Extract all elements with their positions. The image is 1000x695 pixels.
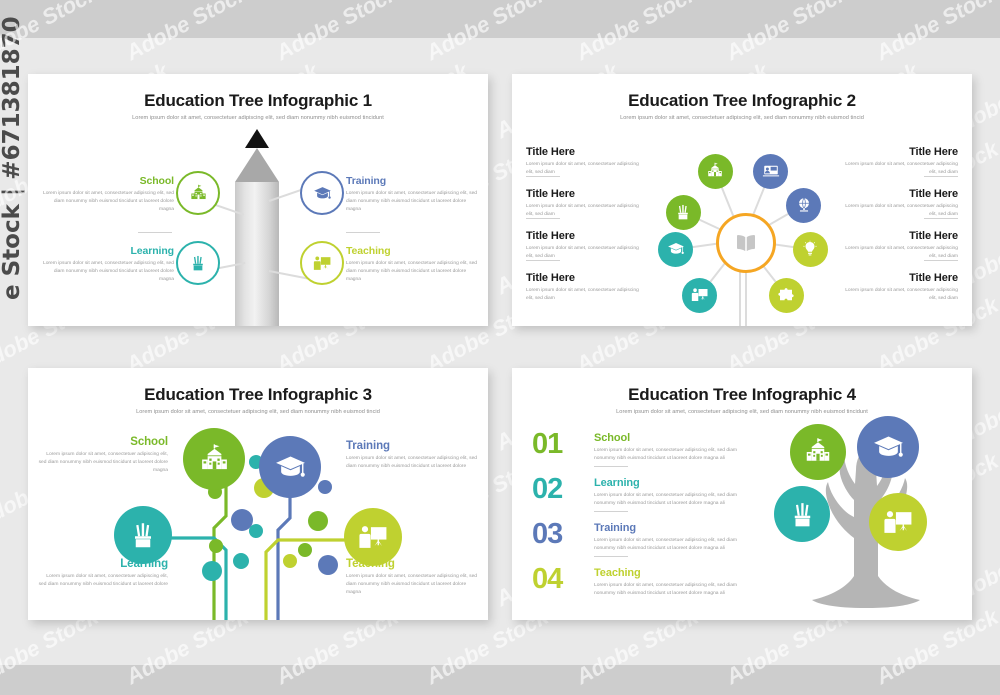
pencil-cup-icon [128,520,158,550]
school-icon [706,162,724,180]
slide2-divider [924,218,958,219]
slide2-item-title: Title Here [526,272,644,284]
slide2-item-title: Title Here [840,188,958,200]
slide2-left-item-3[interactable]: Title HereLorem ipsum dolor sit amet, co… [526,230,644,261]
open-book-icon [733,230,759,256]
slide2-item-body: Lorem ipsum dolor sit amet, consectetuer… [840,287,958,303]
slide1-training-icon-ring[interactable] [300,171,344,215]
slide1-learning-icon-ring[interactable] [176,241,220,285]
slide2-right-item-3[interactable]: Title HereLorem ipsum dolor sit amet, co… [840,230,958,261]
slide3-item-training-label: Training [346,440,480,452]
slide-card-1[interactable]: Education Tree Infographic 1 Lorem ipsum… [28,74,488,326]
slide4-number-04: 04 [532,565,562,594]
globe-icon [795,196,813,214]
slide1-item-learning-label: Learning [38,245,174,257]
slide3-item-school-body: Lorem ipsum dolor sit amet, consectetuer… [38,451,168,475]
slide2-node-puzzle[interactable] [769,278,804,313]
slide1-item-training-body: Lorem ipsum dolor sit amet, consectetuer… [346,190,482,214]
slide4-training-circle[interactable] [857,416,919,478]
online-class-icon [762,162,780,180]
slide1-item-training[interactable]: Training Lorem ipsum dolor sit amet, con… [346,175,482,214]
slide2-item-title: Title Here [526,230,644,242]
school-icon [189,184,208,203]
slide4-item-body: Lorem ipsum dolor sit amet, consectetuer… [594,537,758,553]
slide4-school-circle[interactable] [790,424,846,480]
slide2-item-body: Lorem ipsum dolor sit amet, consectetuer… [526,245,644,261]
slide2-divider [924,260,958,261]
graduation-cap-icon [667,240,685,258]
slide2-node-school[interactable] [698,154,733,189]
slide3-item-teaching-body: Lorem ipsum dolor sit amet, consectetuer… [346,573,480,597]
slide3-training-circle[interactable] [259,436,321,498]
slide4-item-label: Teaching [594,567,758,579]
slide4-number-03: 03 [532,520,562,549]
slide2-trunk-left [739,264,741,326]
slide1-item-teaching[interactable]: Teaching Lorem ipsum dolor sit amet, con… [346,245,482,284]
slide2-trunk-right [745,264,747,326]
slide1-item-school[interactable]: School Lorem ipsum dolor sit amet, conse… [38,175,174,214]
slide2-item-body: Lorem ipsum dolor sit amet, consectetuer… [526,161,644,177]
slide2-item-title: Title Here [840,146,958,158]
slide2-item-body: Lorem ipsum dolor sit amet, consectetuer… [526,287,644,303]
slide1-item-learning[interactable]: Learning Lorem ipsum dolor sit amet, con… [38,245,174,284]
slide4-item-body: Lorem ipsum dolor sit amet, consectetuer… [594,492,758,508]
slide1-item-learning-body: Lorem ipsum dolor sit amet, consectetuer… [38,260,174,284]
slide2-title: Education Tree Infographic 2 [512,91,972,111]
slide1-title: Education Tree Infographic 1 [28,91,488,111]
slide2-divider [526,218,560,219]
pencil-tip [245,129,269,148]
slide2-center-node[interactable] [716,213,776,273]
top-chrome-bar [0,0,1000,38]
slide4-item-training[interactable]: TrainingLorem ipsum dolor sit amet, cons… [594,522,758,553]
presenter-board-icon [691,286,709,304]
slide2-node-online-class[interactable] [753,154,788,189]
slide2-left-item-4[interactable]: Title HereLorem ipsum dolor sit amet, co… [526,272,644,303]
slide2-left-item-1[interactable]: Title HereLorem ipsum dolor sit amet, co… [526,146,644,177]
presenter-board-icon [313,254,332,273]
slide3-item-training-body: Lorem ipsum dolor sit amet, consectetuer… [346,455,480,471]
slide1-item-teaching-body: Lorem ipsum dolor sit amet, consectetuer… [346,260,482,284]
slide3-item-training[interactable]: Training Lorem ipsum dolor sit amet, con… [346,440,480,471]
presenter-board-icon [358,522,389,553]
slide2-divider [924,176,958,177]
school-icon [803,437,833,467]
puzzle-icon [777,286,795,304]
slide2-item-body: Lorem ipsum dolor sit amet, consectetuer… [840,161,958,177]
pencil-cup-icon [788,500,817,529]
slide4-subtitle: Lorem ipsum dolor sit amet, consectetuer… [526,409,958,415]
slide3-item-teaching-label: Teaching [346,558,480,570]
slide4-teaching-circle[interactable] [869,493,927,551]
slide4-number-02: 02 [532,475,562,504]
slide1-item-school-label: School [38,175,174,187]
slide3-item-learning[interactable]: Learning Lorem ipsum dolor sit amet, con… [38,558,168,589]
slide4-item-label: Learning [594,477,758,489]
slide2-right-item-4[interactable]: Title HereLorem ipsum dolor sit amet, co… [840,272,958,303]
pencil-cup-icon [674,203,692,221]
slide4-divider [594,556,628,557]
slide4-number-01: 01 [532,430,562,459]
slide2-item-body: Lorem ipsum dolor sit amet, consectetuer… [840,203,958,219]
slide2-subtitle: Lorem ipsum dolor sit amet, consectetuer… [526,115,958,121]
slide1-item-school-body: Lorem ipsum dolor sit amet, consectetuer… [38,190,174,214]
slide4-item-teaching[interactable]: TeachingLorem ipsum dolor sit amet, cons… [594,567,758,598]
bottom-chrome-bar [0,665,1000,695]
school-icon [198,443,231,476]
slide2-item-title: Title Here [840,272,958,284]
slide2-item-title: Title Here [526,188,644,200]
slide2-node-lightbulb[interactable] [793,232,828,267]
slide2-item-title: Title Here [840,230,958,242]
slide2-node-graduation-cap[interactable] [658,232,693,267]
slide1-item-teaching-label: Teaching [346,245,482,257]
slide4-item-label: Training [594,522,758,534]
slide3-learning-circle[interactable] [114,506,172,564]
slide1-item-training-label: Training [346,175,482,187]
slide4-divider [594,511,628,512]
slide3-item-teaching[interactable]: Teaching Lorem ipsum dolor sit amet, con… [346,558,480,597]
pencil-cone [235,148,279,182]
graduation-cap-icon [313,184,332,203]
slide3-item-learning-label: Learning [38,558,168,570]
slide4-item-body: Lorem ipsum dolor sit amet, consectetuer… [594,582,758,598]
slide4-learning-circle[interactable] [774,486,830,542]
slide2-node-pencil-cup[interactable] [666,195,701,230]
slide-card-2[interactable]: Education Tree Infographic 2 Lorem ipsum… [512,74,972,326]
slide2-divider [526,176,560,177]
stock-id-watermark: e Stock | #671381870 [0,16,25,300]
slide4-item-learning[interactable]: LearningLorem ipsum dolor sit amet, cons… [594,477,758,508]
slide2-item-body: Lorem ipsum dolor sit amet, consectetuer… [526,203,644,219]
slide4-item-label: School [594,432,758,444]
slide-card-4[interactable]: Education Tree Infographic 4 Lorem ipsum… [512,368,972,620]
presenter-board-icon [883,507,914,538]
slide2-item-title: Title Here [526,146,644,158]
slide1-subtitle: Lorem ipsum dolor sit amet, consectetuer… [42,115,474,121]
graduation-cap-icon [274,451,307,484]
slide2-right-item-1[interactable]: Title HereLorem ipsum dolor sit amet, co… [840,146,958,177]
slide3-item-school[interactable]: School Lorem ipsum dolor sit amet, conse… [38,436,168,475]
slide3-item-learning-body: Lorem ipsum dolor sit amet, consectetuer… [38,573,168,589]
slide3-item-school-label: School [38,436,168,448]
slide1-teaching-icon-ring[interactable] [300,241,344,285]
slide4-item-body: Lorem ipsum dolor sit amet, consectetuer… [594,447,758,463]
slide4-divider [594,466,628,467]
slide2-right-item-2[interactable]: Title HereLorem ipsum dolor sit amet, co… [840,188,958,219]
slide1-school-icon-ring[interactable] [176,171,220,215]
slide-card-3[interactable]: Education Tree Infographic 3 Lorem ipsum… [28,368,488,620]
slide1-divider-right [346,232,380,233]
slide3-school-circle[interactable] [183,428,245,490]
slide2-node-globe[interactable] [786,188,821,223]
slide1-divider-left [138,232,172,233]
slide2-item-body: Lorem ipsum dolor sit amet, consectetuer… [840,245,958,261]
slide4-title: Education Tree Infographic 4 [512,385,972,405]
pencil-cup-icon [189,254,207,272]
graduation-cap-icon [872,431,905,464]
slide2-left-item-2[interactable]: Title HereLorem ipsum dolor sit amet, co… [526,188,644,219]
slide2-node-presenter-board[interactable] [682,278,717,313]
pencil-body [235,182,279,326]
slide2-divider [526,260,560,261]
slide4-item-school[interactable]: SchoolLorem ipsum dolor sit amet, consec… [594,432,758,463]
lightbulb-icon [801,240,819,258]
